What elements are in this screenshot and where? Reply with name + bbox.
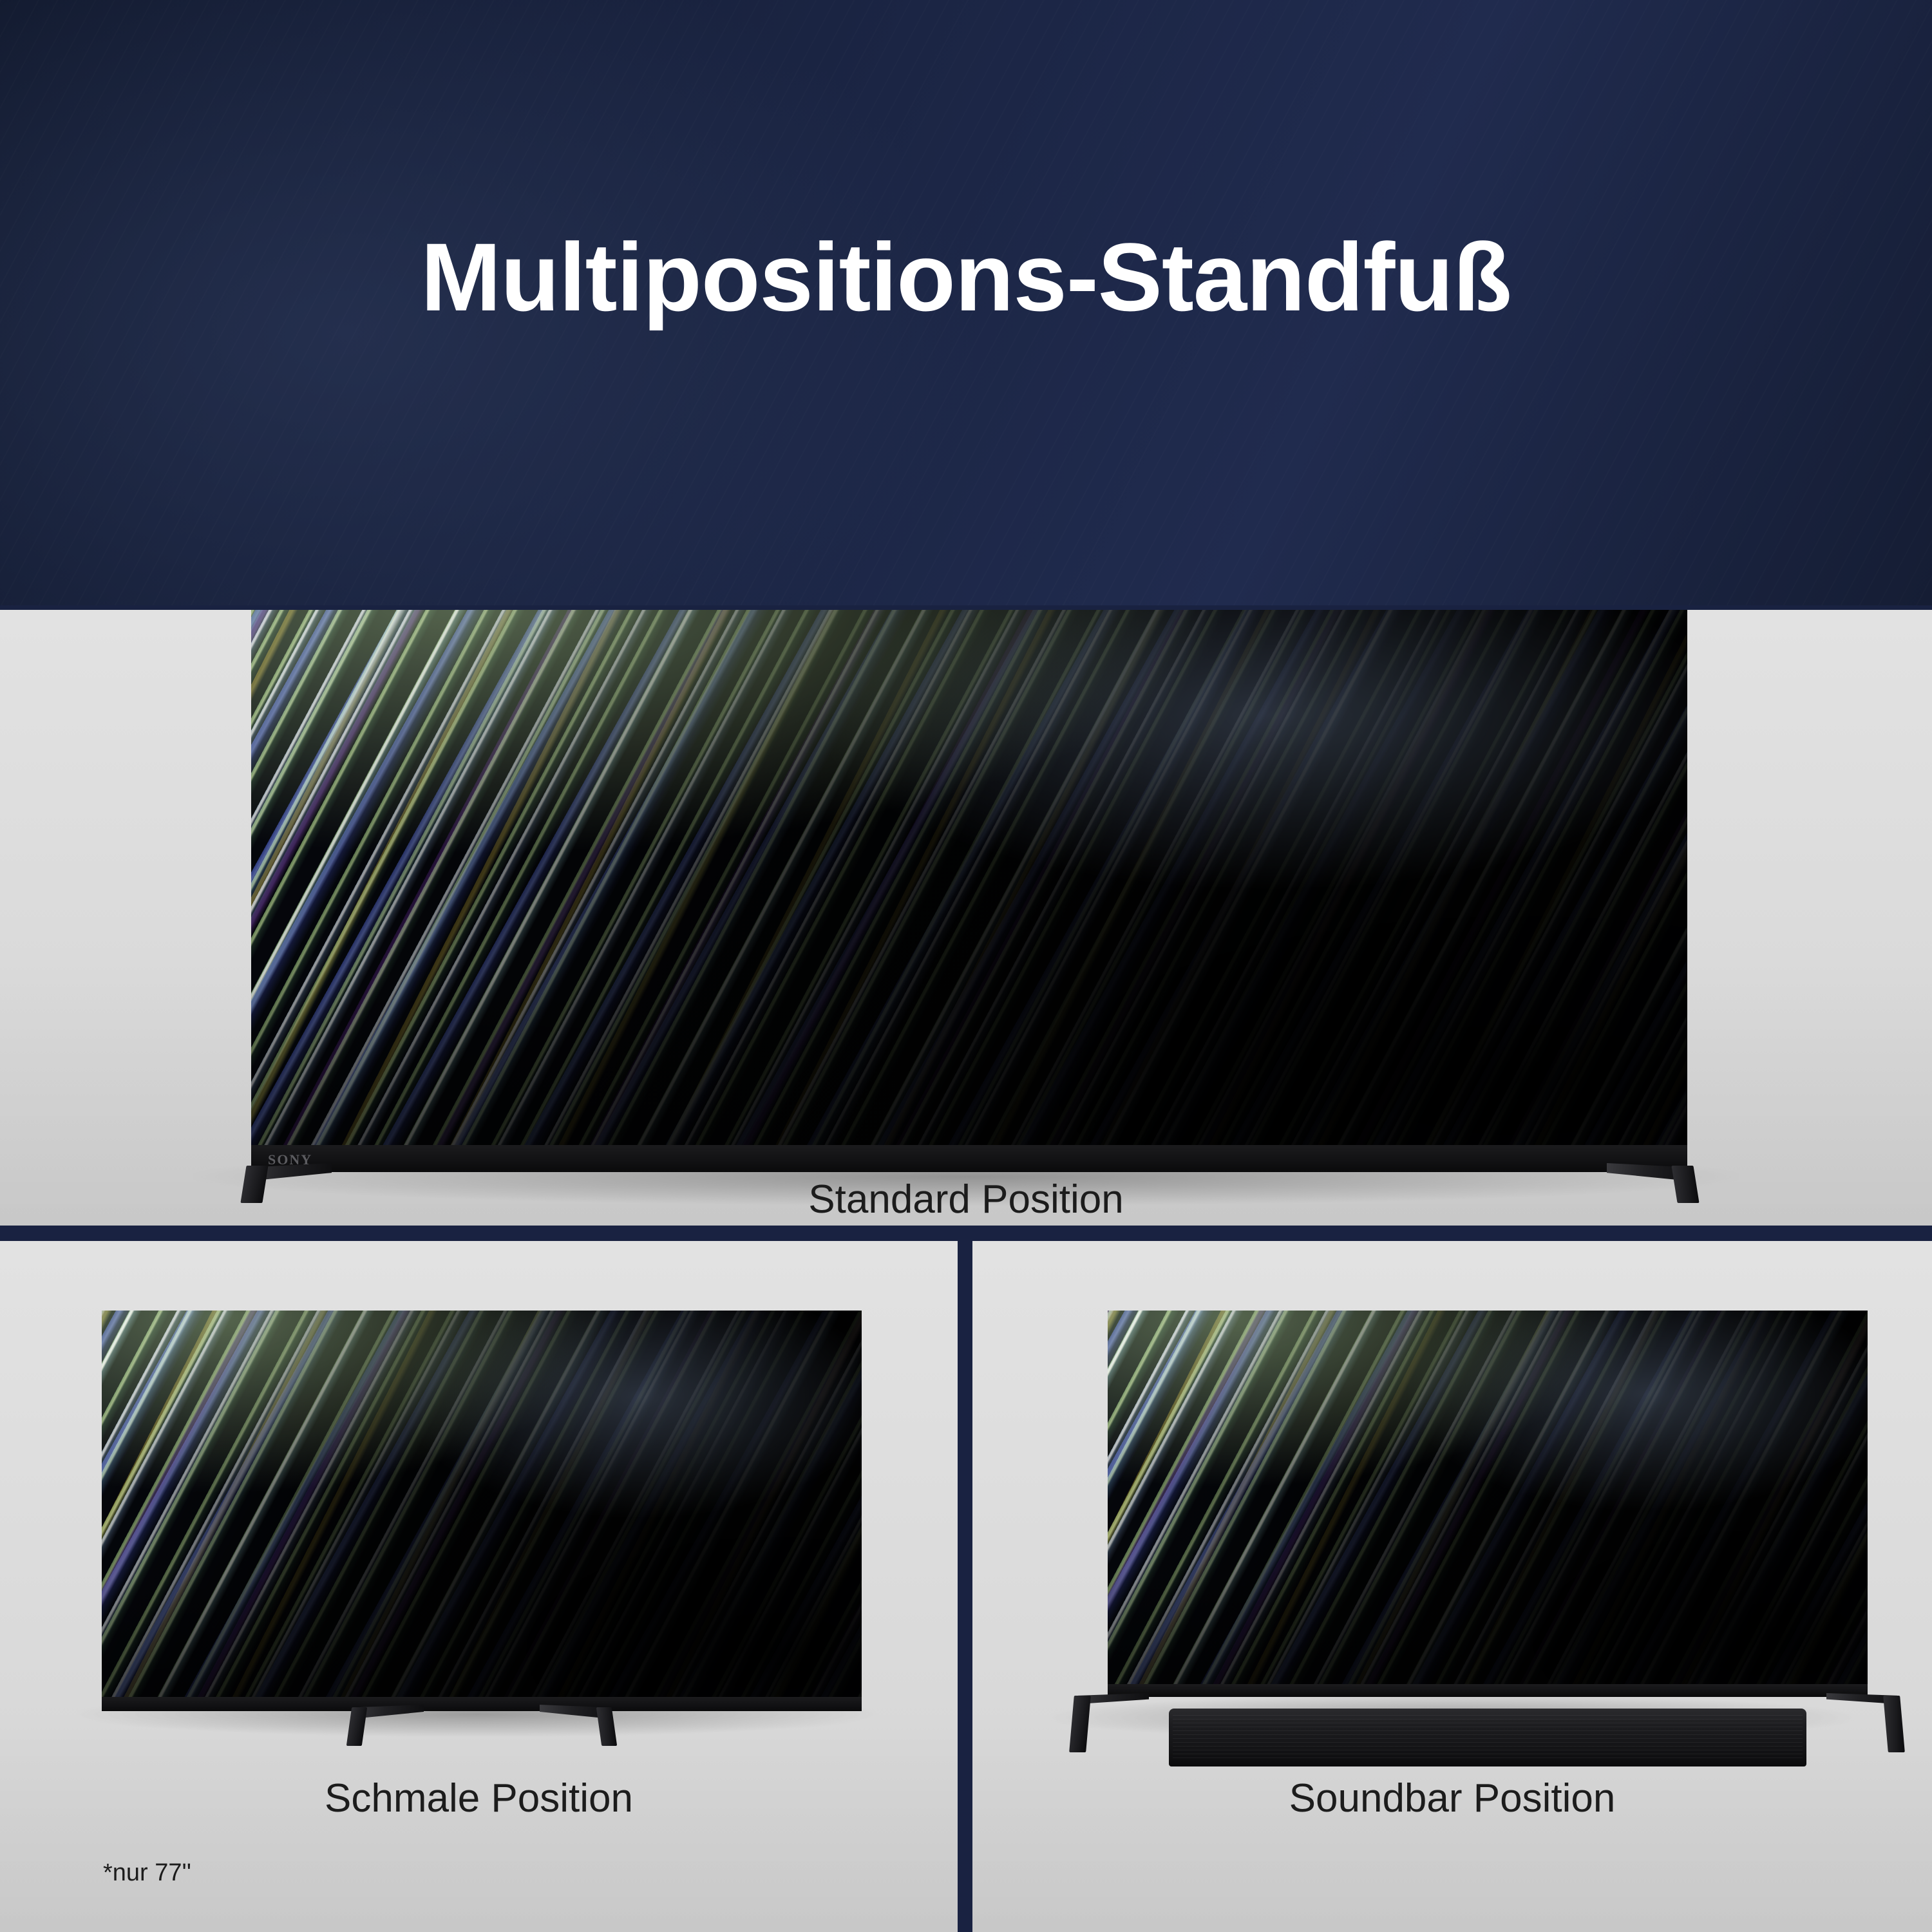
caption-standard-position: Standard Position — [0, 1177, 1932, 1222]
screen-artwork — [102, 1311, 862, 1697]
divider-vertical — [958, 1226, 972, 1932]
tv-bezel-chin — [102, 1697, 862, 1711]
tv-screen — [251, 610, 1687, 1145]
floor-shading — [0, 1713, 958, 1932]
tv-narrow — [102, 1311, 862, 1723]
caption-soundbar-position: Soundbar Position — [972, 1776, 1932, 1821]
header-banner: Multipositions-Standfuß — [0, 0, 1932, 605]
tv-screen — [1108, 1311, 1868, 1684]
panel-soundbar-position: Soundbar Position — [972, 1241, 1932, 1932]
tv-soundbar — [1108, 1311, 1868, 1723]
tv-bezel-chin: SONY — [251, 1145, 1687, 1172]
tv-screen — [102, 1311, 862, 1697]
soundbar — [1169, 1709, 1806, 1766]
screen-artwork — [251, 610, 1687, 1145]
screen-artwork — [1108, 1311, 1868, 1684]
caption-narrow-position: Schmale Position — [0, 1776, 958, 1821]
panel-narrow-position: Schmale Position *nur 77'' — [0, 1241, 958, 1932]
page-title: Multipositions-Standfuß — [0, 229, 1932, 325]
marketing-graphic: Multipositions-Standfuß SONY — [0, 0, 1932, 1932]
panel-standard-position: SONY Standard Position — [0, 610, 1932, 1226]
footnote-size-restriction: *nur 77'' — [103, 1859, 191, 1887]
tv-standard: SONY — [251, 610, 1687, 1185]
divider-header-bottom — [0, 605, 1932, 610]
tv-bezel-chin — [1108, 1684, 1868, 1697]
